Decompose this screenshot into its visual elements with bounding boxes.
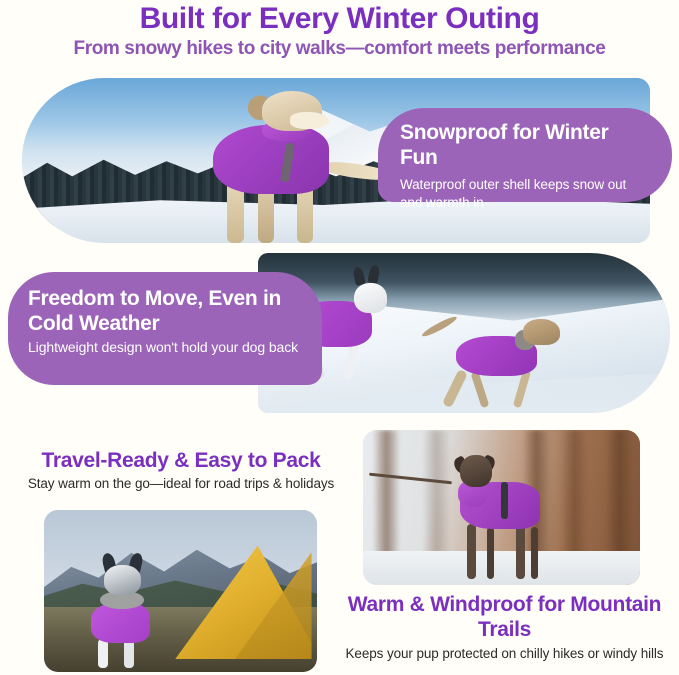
dog-leg [487,527,494,579]
feature-card-freedom-to-move: Freedom to Move, Even in Cold Weather Li… [8,272,322,385]
feature-body: Keeps your pup protected on chilly hikes… [330,645,679,663]
dog-whippet [439,317,579,410]
dog-head [523,319,559,345]
page-title: Built for Every Winter Outing [0,2,679,36]
feature-title: Travel-Ready & Easy to Pack [8,448,354,473]
feature-image-warm-windproof [363,430,640,585]
feature-text-travel-ready: Travel-Ready & Easy to Pack Stay warm on… [8,448,354,493]
dog-leg [442,369,468,408]
header: Built for Every Winter Outing From snowy… [0,0,679,61]
feature-title: Snowproof for Winter Fun [400,120,650,170]
dog-leg [516,524,525,579]
feature-title: Warm & Windproof for Mountain Trails [330,592,679,642]
dog-leg [467,524,476,579]
dog-labrador [192,91,368,243]
dog-mixed-breed [441,455,563,579]
dog-leg [124,639,133,667]
dog-coat-purple [91,603,151,643]
page-subtitle: From snowy hikes to city walks—comfort m… [0,37,679,61]
dog-coat-strap [501,482,507,519]
dog-border-collie [88,565,164,665]
feature-body: Waterproof outer shell keeps snow out an… [400,176,650,212]
feature-text-warm-windproof: Warm & Windproof for Mountain Trails Kee… [330,592,679,663]
feature-image-travel-ready [44,510,317,672]
dog-leg [98,639,107,667]
feature-body: Lightweight design won't hold your dog b… [28,338,302,356]
dog-snout [290,112,329,129]
dog-head [104,565,141,595]
feature-card-snowproof: Snowproof for Winter Fun Waterproof oute… [378,108,672,202]
feature-title: Freedom to Move, Even in Cold Weather [28,286,302,336]
product-feature-infographic: Built for Every Winter Outing From snowy… [0,0,679,675]
dog-leg [470,370,489,408]
dog-head [354,283,386,313]
dog-head [460,455,492,487]
dog-ear [368,265,381,284]
dog-leg [531,527,538,579]
feature-body: Stay warm on the go—ideal for road trips… [8,475,354,493]
